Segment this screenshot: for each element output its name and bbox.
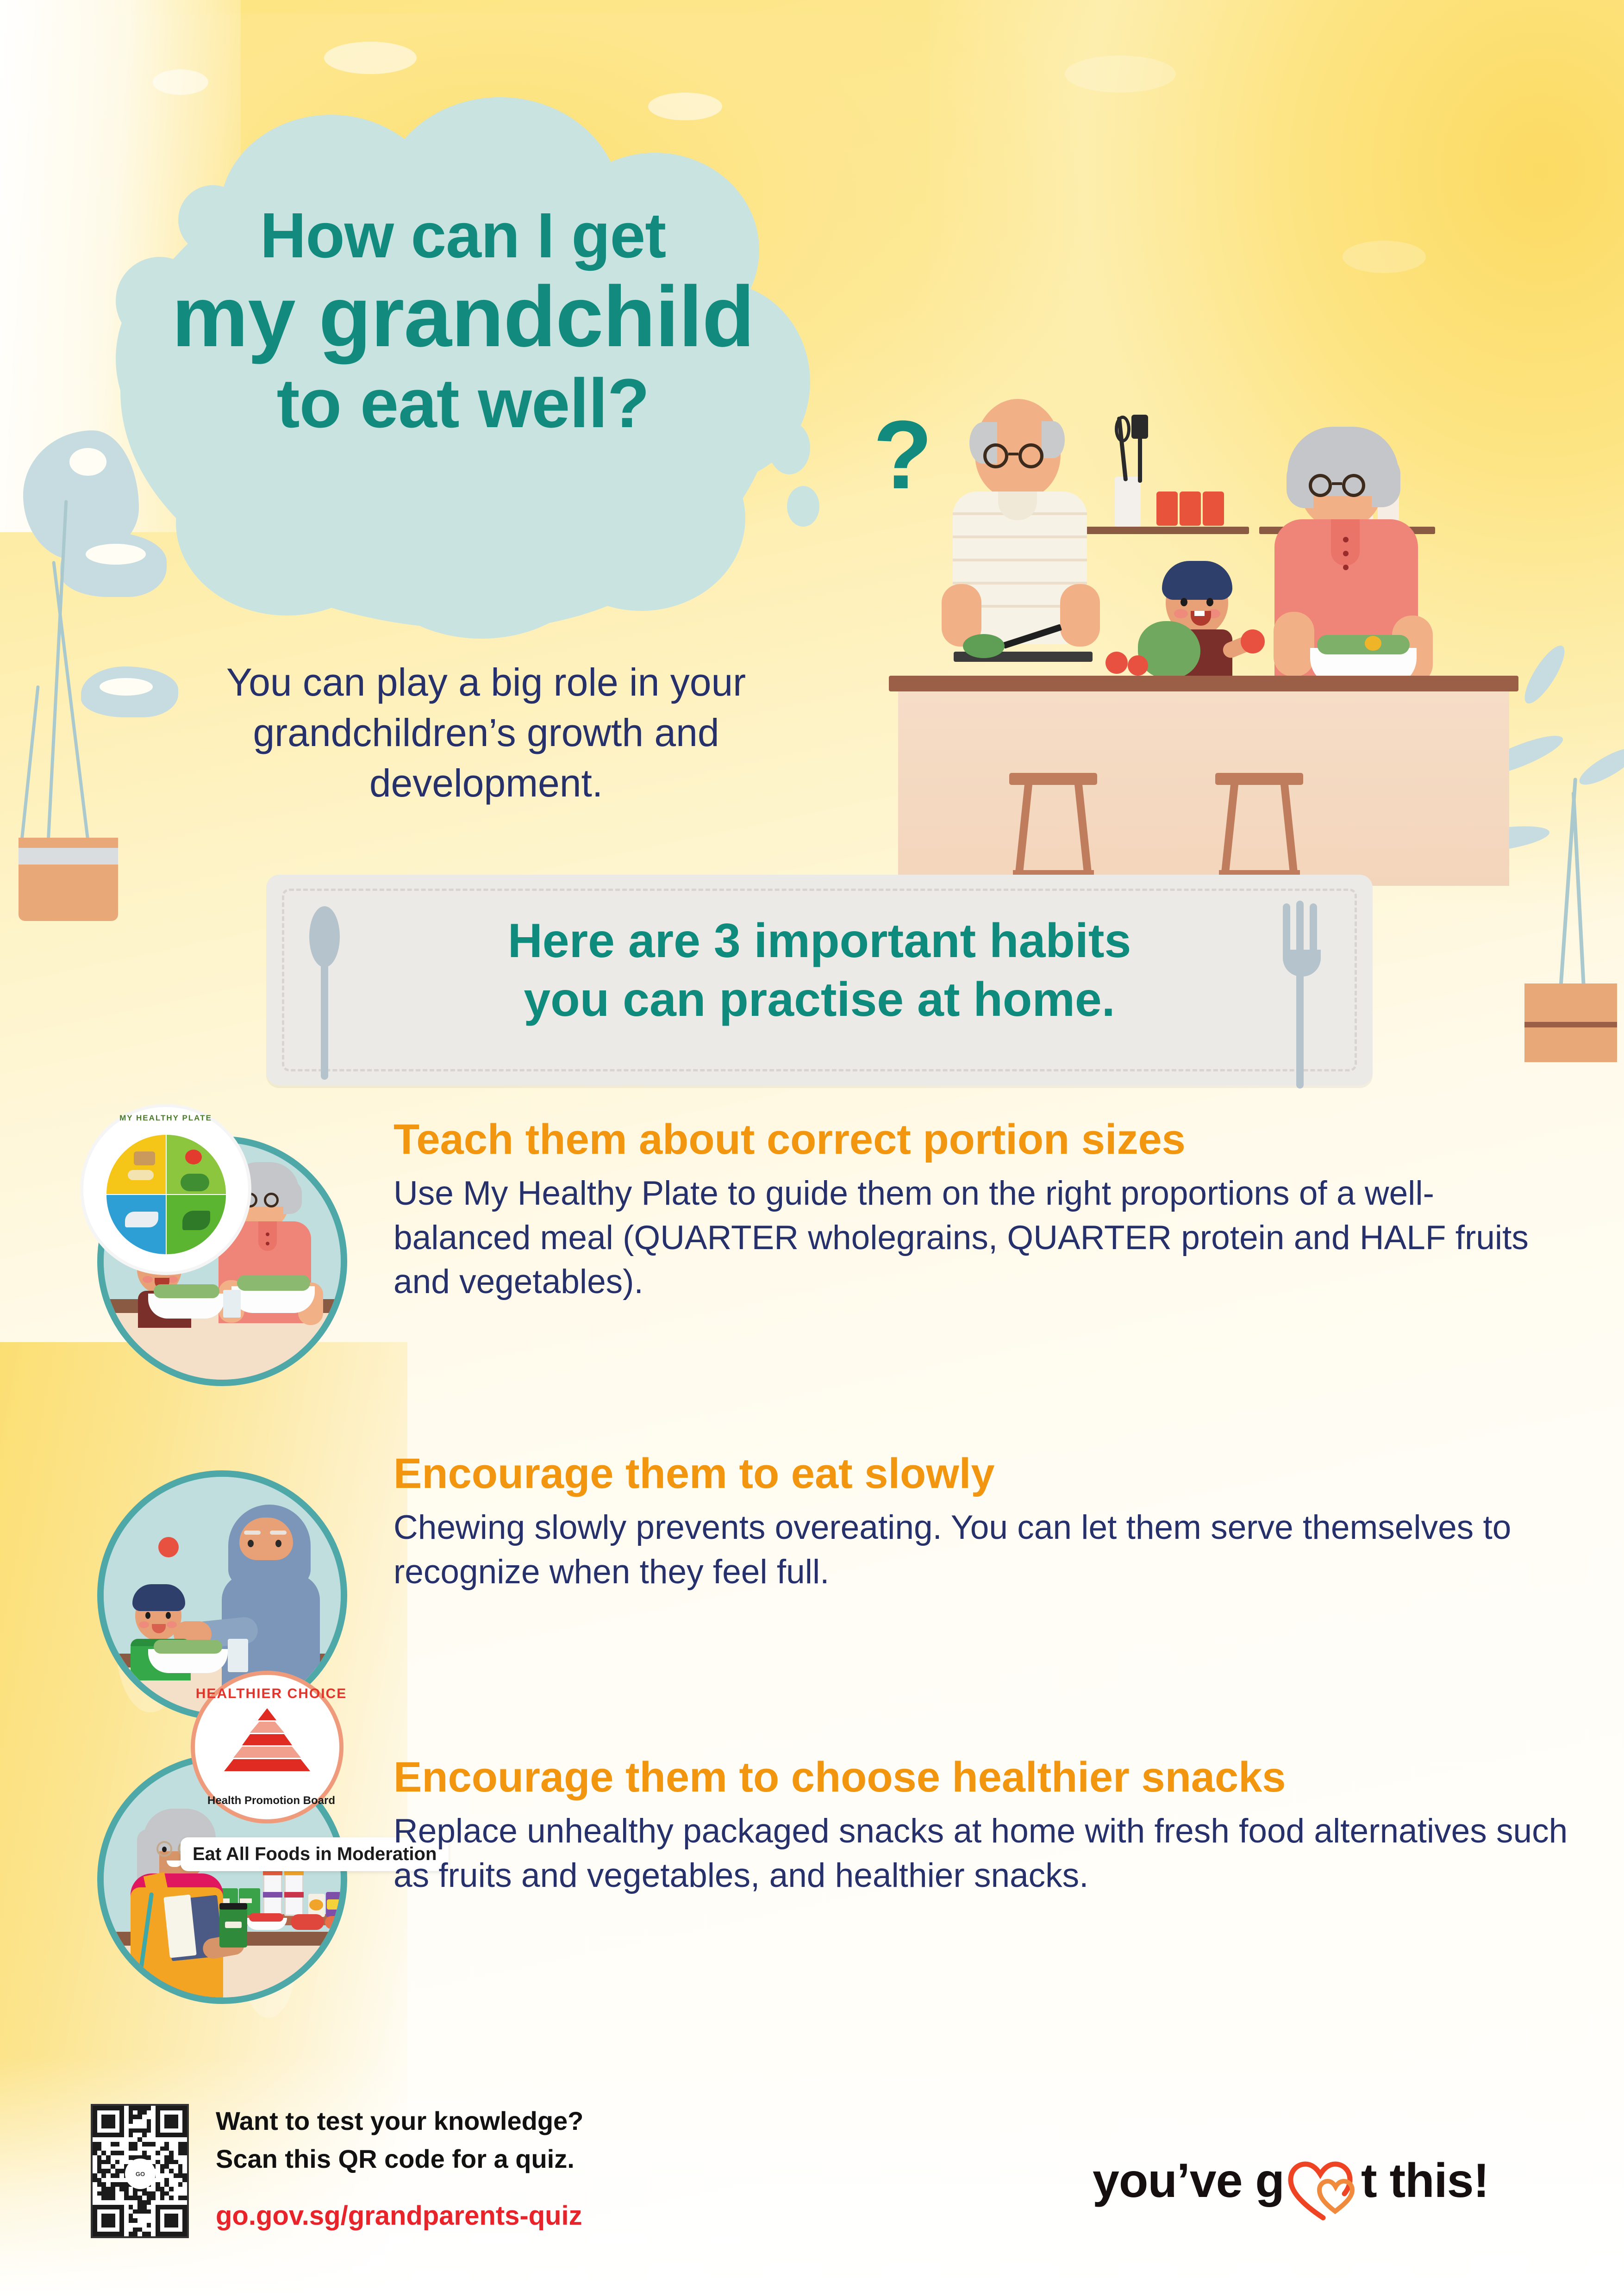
salad	[154, 1284, 219, 1298]
carrots	[325, 1916, 347, 1929]
poster-root: How can I get my grandchild to eat well?…	[0, 0, 1624, 2296]
habit-1-text: Teach them about correct portion sizes U…	[394, 1116, 1569, 1304]
salad-topping	[1365, 636, 1381, 651]
qr-line-2: Scan this QR code for a quiz.	[216, 2144, 575, 2174]
qr-line-1: Want to test your knowledge?	[216, 2106, 583, 2136]
double-heart-icon	[1287, 2160, 1356, 2221]
salad-greens	[1317, 635, 1410, 654]
jar	[1203, 492, 1224, 526]
jar	[1156, 492, 1178, 526]
kitchen-illustration: ?	[870, 366, 1528, 889]
jar	[1180, 492, 1201, 526]
intro-paragraph: You can play a big role in your grandchi…	[176, 657, 796, 809]
habit-2-illustration	[97, 1470, 347, 1720]
habit-2-badge	[83, 1445, 361, 1723]
logo-part-2: t this!	[1361, 2157, 1489, 2205]
jar	[284, 1895, 304, 1916]
headline-line-1: How can I get	[134, 204, 792, 268]
jar	[284, 1873, 304, 1894]
salad	[237, 1275, 310, 1291]
my-healthy-plate-icon: MY HEALTHY PLATE	[83, 1107, 248, 1272]
habit-3-badge: HEALTHIER CHOICE Health Promotion Board …	[83, 1685, 361, 1962]
jar	[263, 1873, 282, 1894]
glass	[228, 1639, 248, 1672]
habit-1-body: Use My Healthy Plate to guide them on th…	[394, 1171, 1569, 1304]
habits-banner: Here are 3 important habits you can prac…	[266, 875, 1373, 1085]
tomatoes	[291, 1914, 324, 1930]
habit-2-title: Encourage them to eat slowly	[394, 1450, 1569, 1497]
tomato-on-fork	[158, 1537, 179, 1557]
headline-line-2: my grandchild	[134, 274, 792, 360]
habit-2-body: Chewing slowly prevents overeating. You …	[394, 1506, 1569, 1594]
bubble-lobe	[176, 430, 398, 616]
tomato	[1106, 652, 1128, 674]
quiz-url[interactable]: go.gov.sg/grandparents-quiz	[216, 2200, 582, 2231]
banner-line-2: you can practise at home.	[266, 971, 1373, 1029]
banner-line-1: Here are 3 important habits	[266, 912, 1373, 971]
page-title: How can I get my grandchild to eat well?	[134, 204, 792, 438]
banner-text: Here are 3 important habits you can prac…	[266, 912, 1373, 1029]
glass	[223, 1290, 241, 1318]
habit-1-badge: MY HEALTHY PLATE	[83, 1111, 361, 1388]
kitchen-counter-top	[889, 676, 1518, 691]
kitchen-counter-body	[898, 691, 1509, 886]
vegetable	[963, 634, 1005, 658]
habit-3-text: Encourage them to choose healthier snack…	[394, 1754, 1569, 1898]
headline-line-3: to eat well?	[134, 368, 792, 438]
habit-2-text: Encourage them to eat slowly Chewing slo…	[394, 1450, 1569, 1594]
cabbage	[1138, 621, 1200, 679]
habit-1-title: Teach them about correct portion sizes	[394, 1116, 1569, 1163]
question-mark-icon: ?	[873, 399, 932, 511]
tomato	[1128, 655, 1148, 676]
healthier-choice-symbol-icon: HEALTHIER CHOICE Health Promotion Board	[191, 1671, 344, 1823]
snack-packet	[344, 1893, 347, 1917]
salad	[154, 1640, 222, 1654]
habit-3-body: Replace unhealthy packaged snacks at hom…	[394, 1809, 1569, 1898]
habit-3-title: Encourage them to choose healthier snack…	[394, 1754, 1569, 1801]
qr-center-logo: GO	[125, 2159, 156, 2189]
bubble-lobe	[537, 426, 745, 611]
campaign-logo: you’ve g t this!	[1093, 2157, 1555, 2240]
bubble-trail-5	[787, 486, 819, 527]
qr-section: GO Want to test your knowledge? Scan thi…	[91, 2099, 785, 2252]
logo-part-1: you’ve g	[1093, 2157, 1284, 2205]
tomato	[1241, 629, 1265, 653]
